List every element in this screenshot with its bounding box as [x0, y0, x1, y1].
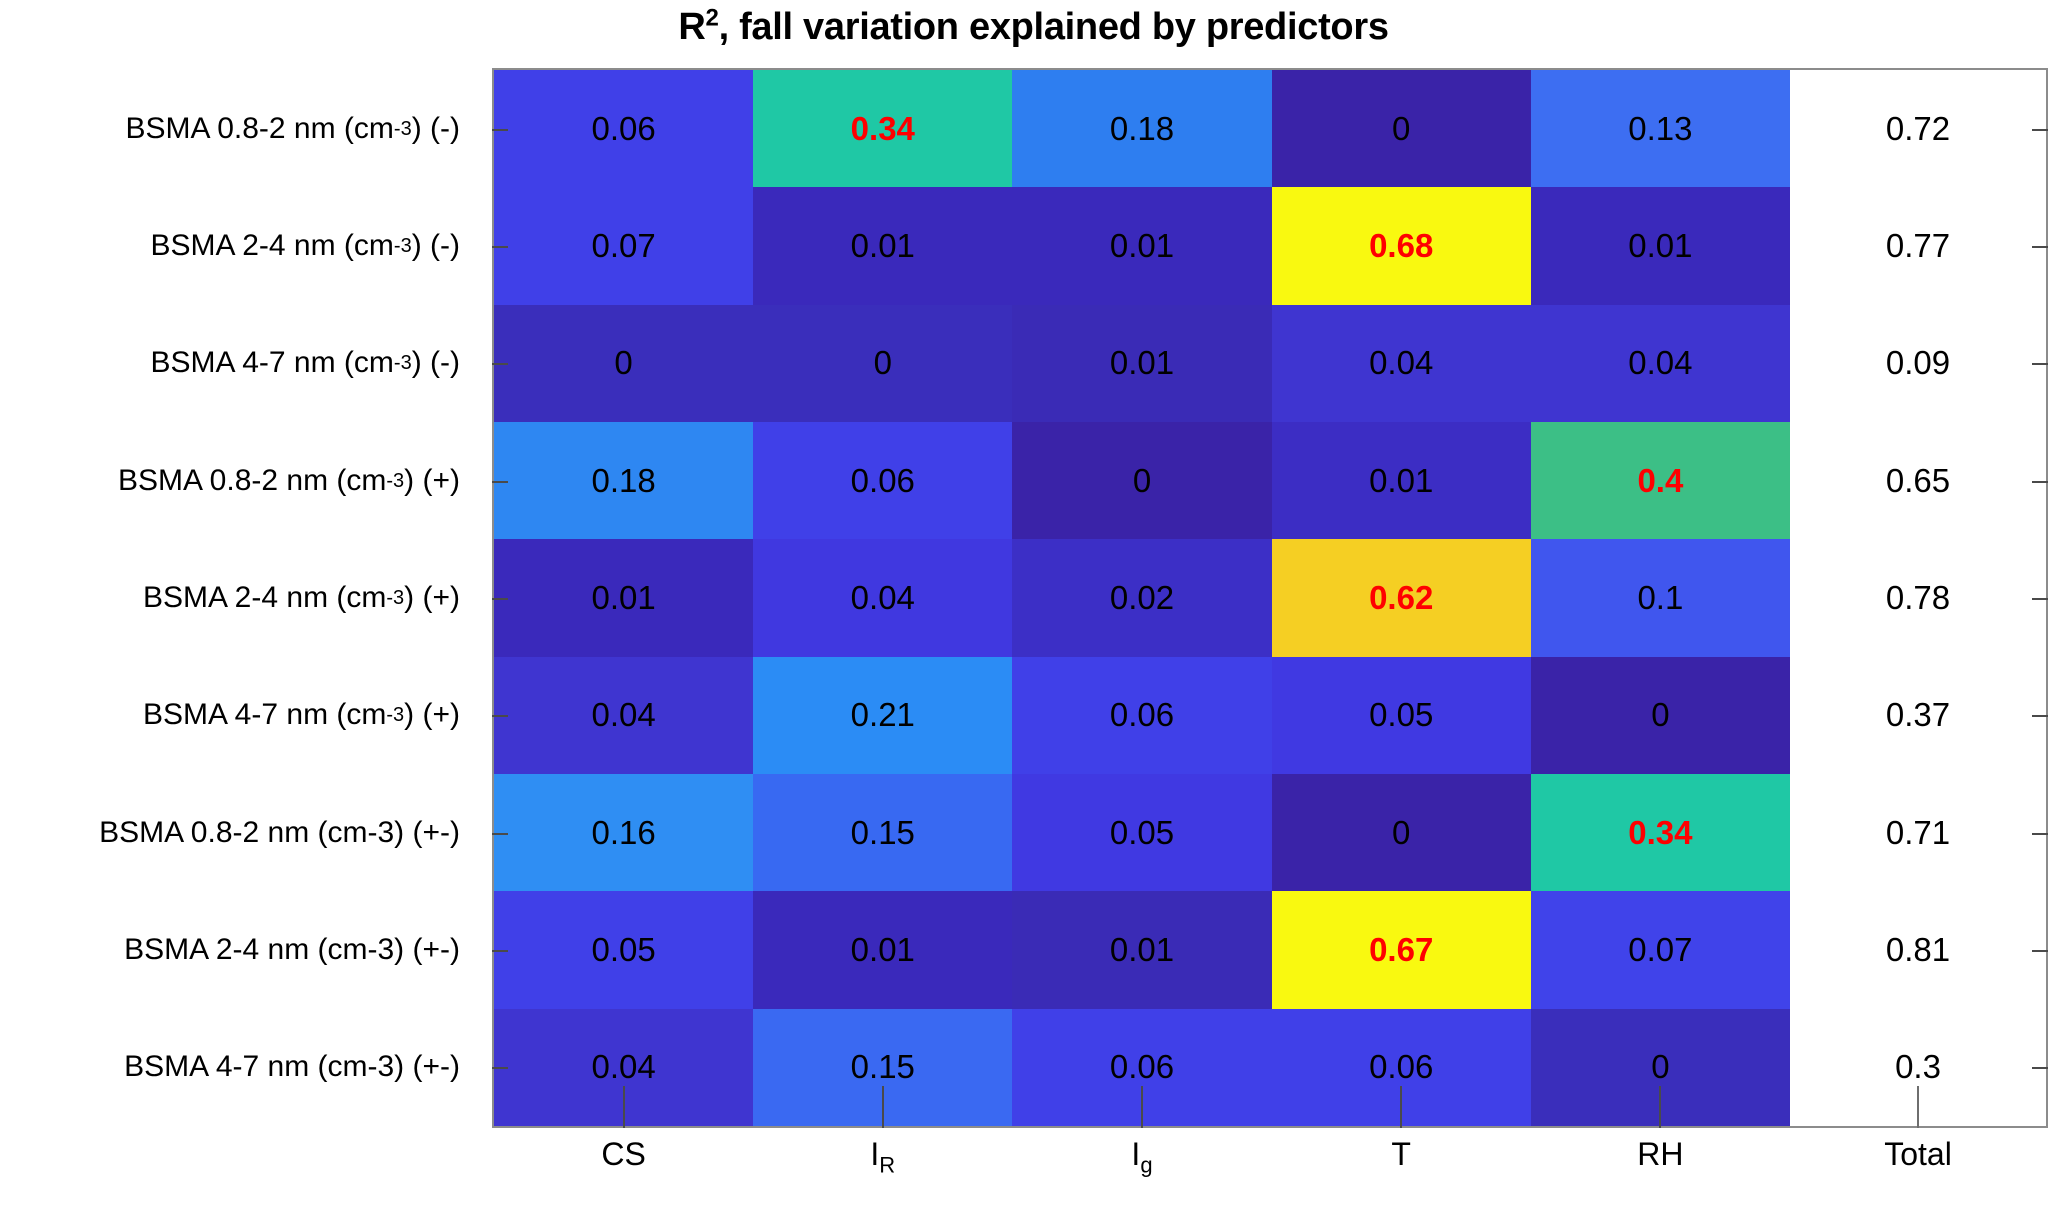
heatmap-cell: 0.04 — [1531, 305, 1790, 422]
heatmap-cell: 0.18 — [1012, 70, 1271, 187]
total-cell: 0.81 — [1790, 891, 2046, 1008]
y-tick-mark-right — [2032, 1067, 2048, 1069]
x-axis-label: IR — [870, 1136, 895, 1173]
heatmap-cell: 0.01 — [1012, 891, 1271, 1008]
x-tick-mark — [1400, 1086, 1402, 1128]
x-axis-labels: CSIRIgTRHTotal — [492, 1136, 2048, 1216]
chart-title: R2, fall variation explained by predicto… — [0, 6, 2067, 49]
y-tick-mark — [492, 363, 508, 365]
x-axis-label: Total — [1884, 1136, 1952, 1173]
heatmap-cell: 0.21 — [753, 657, 1012, 774]
heatmap-cell: 0 — [1272, 774, 1531, 891]
total-cell: 0.65 — [1790, 422, 2046, 539]
y-tick-mark — [492, 598, 508, 600]
heatmap-cell: 0.34 — [753, 70, 1012, 187]
y-tick-mark — [492, 1067, 508, 1069]
heatmap-cell: 0.01 — [1012, 187, 1271, 304]
heatmap-cell: 0.02 — [1012, 539, 1271, 656]
heatmap-cell: 0.04 — [1272, 305, 1531, 422]
heatmap-cell: 0.01 — [753, 187, 1012, 304]
heatmap-cell: 0.07 — [494, 187, 753, 304]
y-tick-mark-right — [2032, 129, 2048, 131]
heatmap-cell: 0.1 — [1531, 539, 1790, 656]
total-cell: 0.71 — [1790, 774, 2046, 891]
heatmap-cell: 0.13 — [1531, 70, 1790, 187]
total-cell: 0.77 — [1790, 187, 2046, 304]
y-axis-label: BSMA 2-4 nm (cm-3) (-) — [0, 187, 470, 304]
x-tick-mark — [623, 1086, 625, 1128]
heatmap-cell: 0.05 — [1272, 657, 1531, 774]
total-cell: 0.78 — [1790, 539, 2046, 656]
heatmap-cell: 0.68 — [1272, 187, 1531, 304]
heatmap-cell: 0.01 — [1531, 187, 1790, 304]
heatmap-cell: 0.06 — [1012, 657, 1271, 774]
chart-title-superscript: 2 — [706, 4, 719, 31]
heatmap-cell: 0.04 — [753, 539, 1012, 656]
heatmap-cell: 0.01 — [1012, 305, 1271, 422]
y-tick-mark-right — [2032, 598, 2048, 600]
heatmap-grid: 0.060.340.1800.130.070.010.010.680.01000… — [494, 70, 1790, 1126]
y-tick-mark-right — [2032, 950, 2048, 952]
y-tick-mark — [492, 950, 508, 952]
heatmap-cell: 0 — [1272, 70, 1531, 187]
y-axis-label: BSMA 0.8-2 nm (cm-3) (+) — [0, 422, 470, 539]
heatmap-cell: 0.62 — [1272, 539, 1531, 656]
x-axis-label: Ig — [1131, 1136, 1152, 1173]
x-axis-label: T — [1391, 1136, 1411, 1173]
x-tick-mark — [882, 1086, 884, 1128]
heatmap-cell: 0.4 — [1531, 422, 1790, 539]
heatmap-cell: 0.04 — [494, 657, 753, 774]
heatmap-cell: 0.01 — [753, 891, 1012, 1008]
chart-title-rest: , fall variation explained by predictors — [719, 6, 1389, 48]
heatmap-cell: 0.06 — [753, 422, 1012, 539]
y-axis-label: BSMA 0.8-2 nm (cm-3) (-) — [0, 70, 470, 187]
heatmap-cell: 0.07 — [1531, 891, 1790, 1008]
y-tick-mark — [492, 129, 508, 131]
total-column: 0.720.770.090.650.780.370.710.810.3 — [1790, 70, 2046, 1126]
x-axis-label: CS — [601, 1136, 645, 1173]
y-axis-label: BSMA 4-7 nm (cm-3) (-) — [0, 305, 470, 422]
heatmap-cell: 0.15 — [753, 774, 1012, 891]
heatmap-cell: 0 — [1531, 657, 1790, 774]
heatmap-cell: 0.05 — [494, 891, 753, 1008]
y-axis-label: BSMA 2-4 nm (cm-3) (+) — [0, 539, 470, 656]
heatmap-cell: 0 — [753, 305, 1012, 422]
y-tick-mark-right — [2032, 481, 2048, 483]
y-axis-label: BSMA 4-7 nm (cm-3) (+-) — [0, 1009, 470, 1126]
y-tick-mark-right — [2032, 715, 2048, 717]
y-tick-mark-right — [2032, 246, 2048, 248]
y-tick-mark — [492, 715, 508, 717]
y-tick-mark-right — [2032, 363, 2048, 365]
y-axis-label: BSMA 4-7 nm (cm-3) (+) — [0, 657, 470, 774]
x-axis-label: RH — [1637, 1136, 1683, 1173]
y-tick-mark-right — [2032, 833, 2048, 835]
x-tick-mark — [1659, 1086, 1661, 1128]
heatmap-cell: 0 — [1012, 422, 1271, 539]
total-cell: 0.09 — [1790, 305, 2046, 422]
heatmap-figure: R2, fall variation explained by predicto… — [0, 0, 2067, 1211]
chart-title-prefix: R — [678, 6, 705, 48]
total-cell: 0.72 — [1790, 70, 2046, 187]
x-tick-mark — [1141, 1086, 1143, 1128]
y-tick-mark — [492, 246, 508, 248]
y-axis-label: BSMA 2-4 nm (cm-3) (+-) — [0, 891, 470, 1008]
heatmap-cell: 0.18 — [494, 422, 753, 539]
heatmap-cell: 0.16 — [494, 774, 753, 891]
x-tick-mark — [1917, 1086, 1919, 1128]
heatmap-cell: 0.01 — [1272, 422, 1531, 539]
y-axis-labels: BSMA 0.8-2 nm (cm-3) (-)BSMA 2-4 nm (cm-… — [0, 70, 470, 1126]
y-tick-mark — [492, 833, 508, 835]
total-cell: 0.37 — [1790, 657, 2046, 774]
y-axis-label: BSMA 0.8-2 nm (cm-3) (+-) — [0, 774, 470, 891]
heatmap-cell: 0 — [494, 305, 753, 422]
heatmap-cell: 0.01 — [494, 539, 753, 656]
heatmap-cell: 0.34 — [1531, 774, 1790, 891]
y-tick-mark — [492, 481, 508, 483]
heatmap-cell: 0.67 — [1272, 891, 1531, 1008]
heatmap-cell: 0.05 — [1012, 774, 1271, 891]
heatmap-cell: 0.06 — [494, 70, 753, 187]
